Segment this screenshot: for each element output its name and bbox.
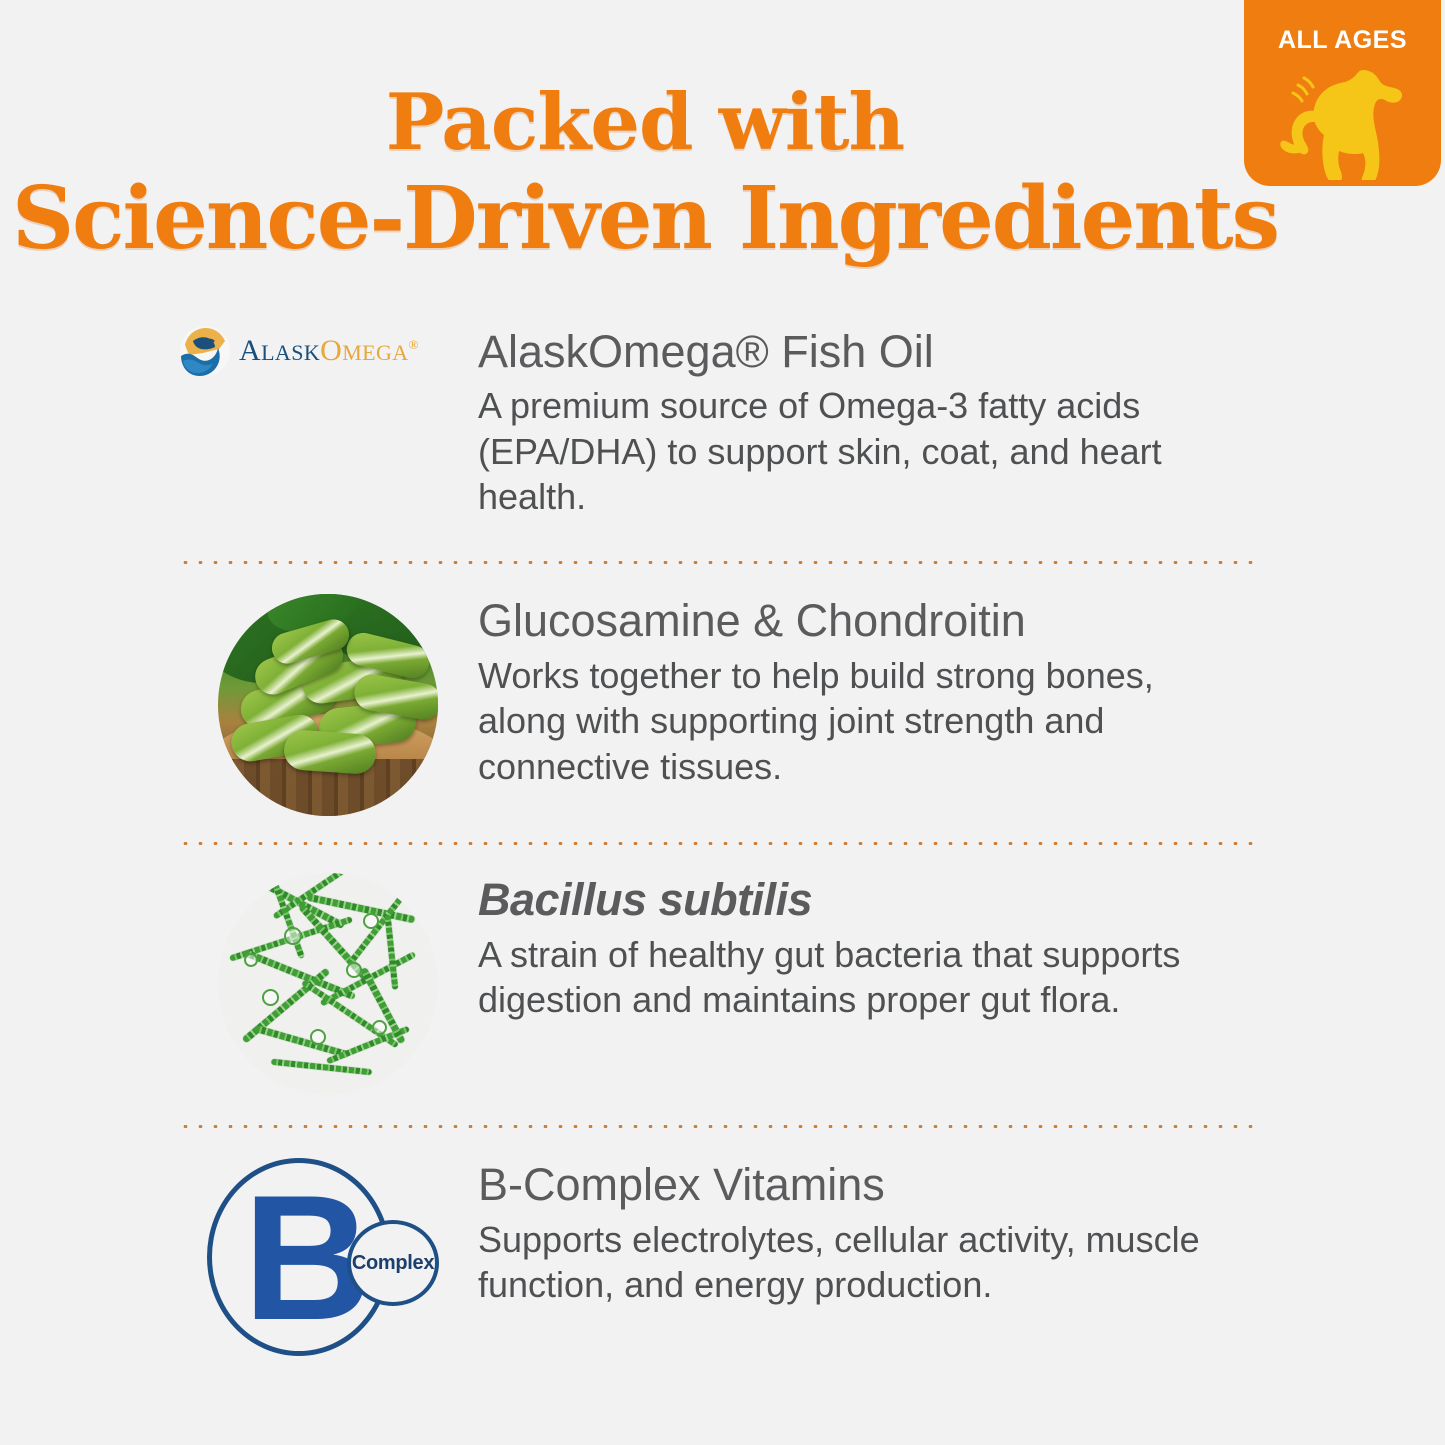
ingredient-row-alaskomega: ALASKOMEGA® AlaskOmega® Fish Oil A premi…	[0, 325, 1445, 519]
ingredient-description-bacillus: A strain of healthy gut bacteria that su…	[478, 932, 1205, 1023]
ingredient-body-bcomplex: B-Complex Vitamins Supports electrolytes…	[478, 1158, 1445, 1307]
alaskomega-word-omega-rest: MEGA	[342, 340, 408, 365]
bacteria-microscopy-photo	[218, 873, 438, 1095]
alaskomega-wordmark: ALASKOMEGA®	[239, 336, 419, 366]
ingredient-media-bacillus	[178, 873, 478, 1095]
ingredient-row-glucosamine: Glucosamine & Chondroitin Works together…	[0, 594, 1445, 816]
ingredient-title-bcomplex: B-Complex Vitamins	[478, 1160, 1205, 1210]
ingredient-title-bacillus: Bacillus subtilis	[478, 875, 1205, 925]
alaskomega-mark-icon	[179, 325, 231, 377]
alaskomega-word-omega-cap: O	[320, 334, 342, 367]
ingredient-divider-1	[178, 561, 1258, 564]
b-complex-small-circle: Complex	[347, 1220, 439, 1306]
ingredient-body-glucosamine: Glucosamine & Chondroitin Works together…	[478, 594, 1445, 788]
alaskomega-word-alask-rest: LASK	[261, 340, 320, 365]
all-ages-badge-label: ALL AGES	[1244, 28, 1441, 53]
b-complex-small-label: Complex	[352, 1252, 434, 1275]
ingredient-divider-3	[178, 1125, 1258, 1128]
b-complex-logo: B Complex	[207, 1158, 449, 1364]
ingredient-body-alaskomega: AlaskOmega® Fish Oil A premium source of…	[478, 325, 1445, 519]
alaskomega-registered-mark: ®	[409, 337, 419, 352]
ingredient-media-glucosamine	[178, 594, 478, 816]
ingredient-description-glucosamine: Works together to help build strong bone…	[478, 653, 1205, 789]
ingredient-title-glucosamine: Glucosamine & Chondroitin	[478, 596, 1205, 646]
alaskomega-logo: ALASKOMEGA®	[179, 325, 469, 377]
page-title: Packed with Science-Driven Ingredients	[0, 84, 1290, 262]
ingredient-media-alaskomega: ALASKOMEGA®	[178, 325, 478, 377]
ingredient-row-bacillus: Bacillus subtilis A strain of healthy gu…	[0, 873, 1445, 1095]
alaskomega-word-alask-cap: A	[239, 334, 261, 367]
ingredient-body-bacillus: Bacillus subtilis A strain of healthy gu…	[478, 873, 1445, 1022]
green-capsules-photo	[218, 594, 438, 816]
page-title-line-1: Packed with	[0, 84, 1290, 162]
ingredient-row-bcomplex: B Complex B-Complex Vitamins Supports el…	[0, 1158, 1445, 1364]
ingredient-description-bcomplex: Supports electrolytes, cellular activity…	[478, 1217, 1205, 1308]
ingredient-list: ALASKOMEGA® AlaskOmega® Fish Oil A premi…	[0, 325, 1445, 1364]
ingredient-title-alaskomega: AlaskOmega® Fish Oil	[478, 327, 1205, 377]
ingredient-description-alaskomega: A premium source of Omega-3 fatty acids …	[478, 383, 1205, 519]
page-title-line-2: Science-Driven Ingredients	[0, 176, 1290, 262]
sitting-dog-icon	[1268, 58, 1418, 180]
ingredient-media-bcomplex: B Complex	[178, 1158, 478, 1364]
ingredient-divider-2	[178, 842, 1258, 845]
